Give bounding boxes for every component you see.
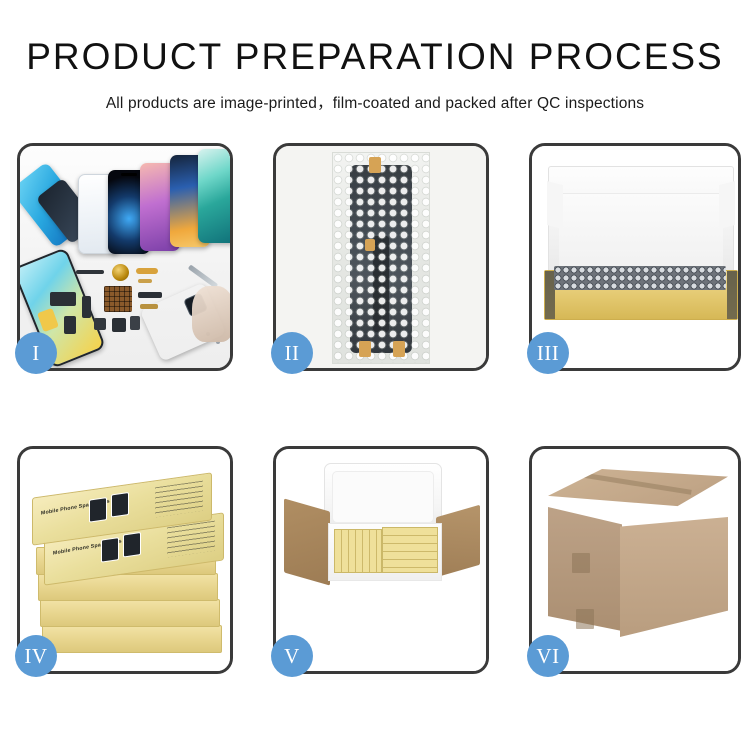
carton-tape-1 — [572, 553, 590, 573]
box-label-phone-a2 — [101, 537, 119, 563]
step-badge-4: IV — [15, 635, 57, 677]
step-badge-2: II — [271, 332, 313, 374]
process-step-4: Mobile Phone Spare Parts Mobile Phone Sp… — [17, 446, 233, 674]
flex-cable-2 — [136, 268, 158, 274]
chip-grid-part — [104, 286, 132, 312]
phone-screen-teal — [198, 149, 230, 243]
box-stack: Mobile Phone Spare Parts Mobile Phone Sp… — [28, 465, 224, 661]
small-part-10 — [112, 318, 126, 332]
bubble-texture — [333, 153, 429, 363]
box-label-phone-a1 — [89, 497, 107, 523]
stacked-box-5 — [42, 625, 222, 653]
page-title: PRODUCT PREPARATION PROCESS — [0, 38, 750, 75]
flex-cable-5 — [82, 296, 91, 318]
tape-tab-4 — [393, 341, 405, 357]
notch — [121, 173, 137, 176]
carton-tape-2 — [576, 609, 594, 629]
step-3-image — [532, 146, 738, 368]
step-badge-3: III — [527, 332, 569, 374]
process-step-2: II — [273, 143, 489, 371]
step-4-image: Mobile Phone Spare Parts Mobile Phone Sp… — [20, 449, 230, 671]
step-2-image — [276, 146, 486, 368]
tape-tab-3 — [359, 341, 371, 357]
flex-cable-3 — [138, 279, 152, 283]
stacked-box-4 — [40, 599, 220, 627]
step-6-image — [532, 449, 738, 671]
inner-boxes-right — [382, 527, 438, 573]
small-part-8 — [64, 316, 76, 334]
inner-boxes-left — [334, 529, 382, 573]
flex-cable-7 — [140, 304, 158, 309]
step-5-image — [276, 449, 486, 671]
process-step-3: III — [529, 143, 741, 371]
small-part-11 — [130, 316, 140, 330]
step-badge-5: V — [271, 635, 313, 677]
flex-cable-1 — [76, 270, 104, 274]
page-subtitle: All products are image-printed，film-coat… — [0, 91, 750, 113]
lid-flap-left — [547, 181, 563, 229]
process-grid: I II — [17, 143, 740, 674]
small-part-9 — [94, 318, 106, 330]
white-box-lid — [548, 166, 734, 278]
box-label-spec-lines-1 — [155, 481, 203, 518]
carton-right-face — [620, 517, 728, 637]
box-label-phone-b2 — [123, 532, 141, 558]
bubble-wrap-fill — [554, 266, 726, 290]
process-step-1: I — [17, 143, 233, 371]
flex-cable-4 — [50, 292, 76, 306]
step-1-image — [20, 146, 230, 368]
sealed-carton — [548, 469, 728, 647]
step-badge-1: I — [15, 332, 57, 374]
lid-flap-right — [719, 181, 735, 229]
gold-coil-part — [112, 264, 129, 281]
step-badge-6: VI — [527, 635, 569, 677]
tape-tab-1 — [369, 157, 381, 173]
box-label-spec-lines-2 — [167, 521, 215, 558]
process-step-6: VI — [529, 446, 741, 674]
page-root: PRODUCT PREPARATION PROCESS All products… — [0, 0, 750, 750]
page-header: PRODUCT PREPARATION PROCESS All products… — [0, 0, 750, 113]
box-label-phone-b1 — [111, 492, 129, 518]
bubble-wrap-bag — [332, 152, 430, 364]
hand — [192, 286, 230, 342]
foam-lid — [324, 463, 442, 531]
process-step-5: V — [273, 446, 489, 674]
tape-tab-2 — [365, 239, 375, 251]
flex-cable-6 — [138, 292, 162, 298]
